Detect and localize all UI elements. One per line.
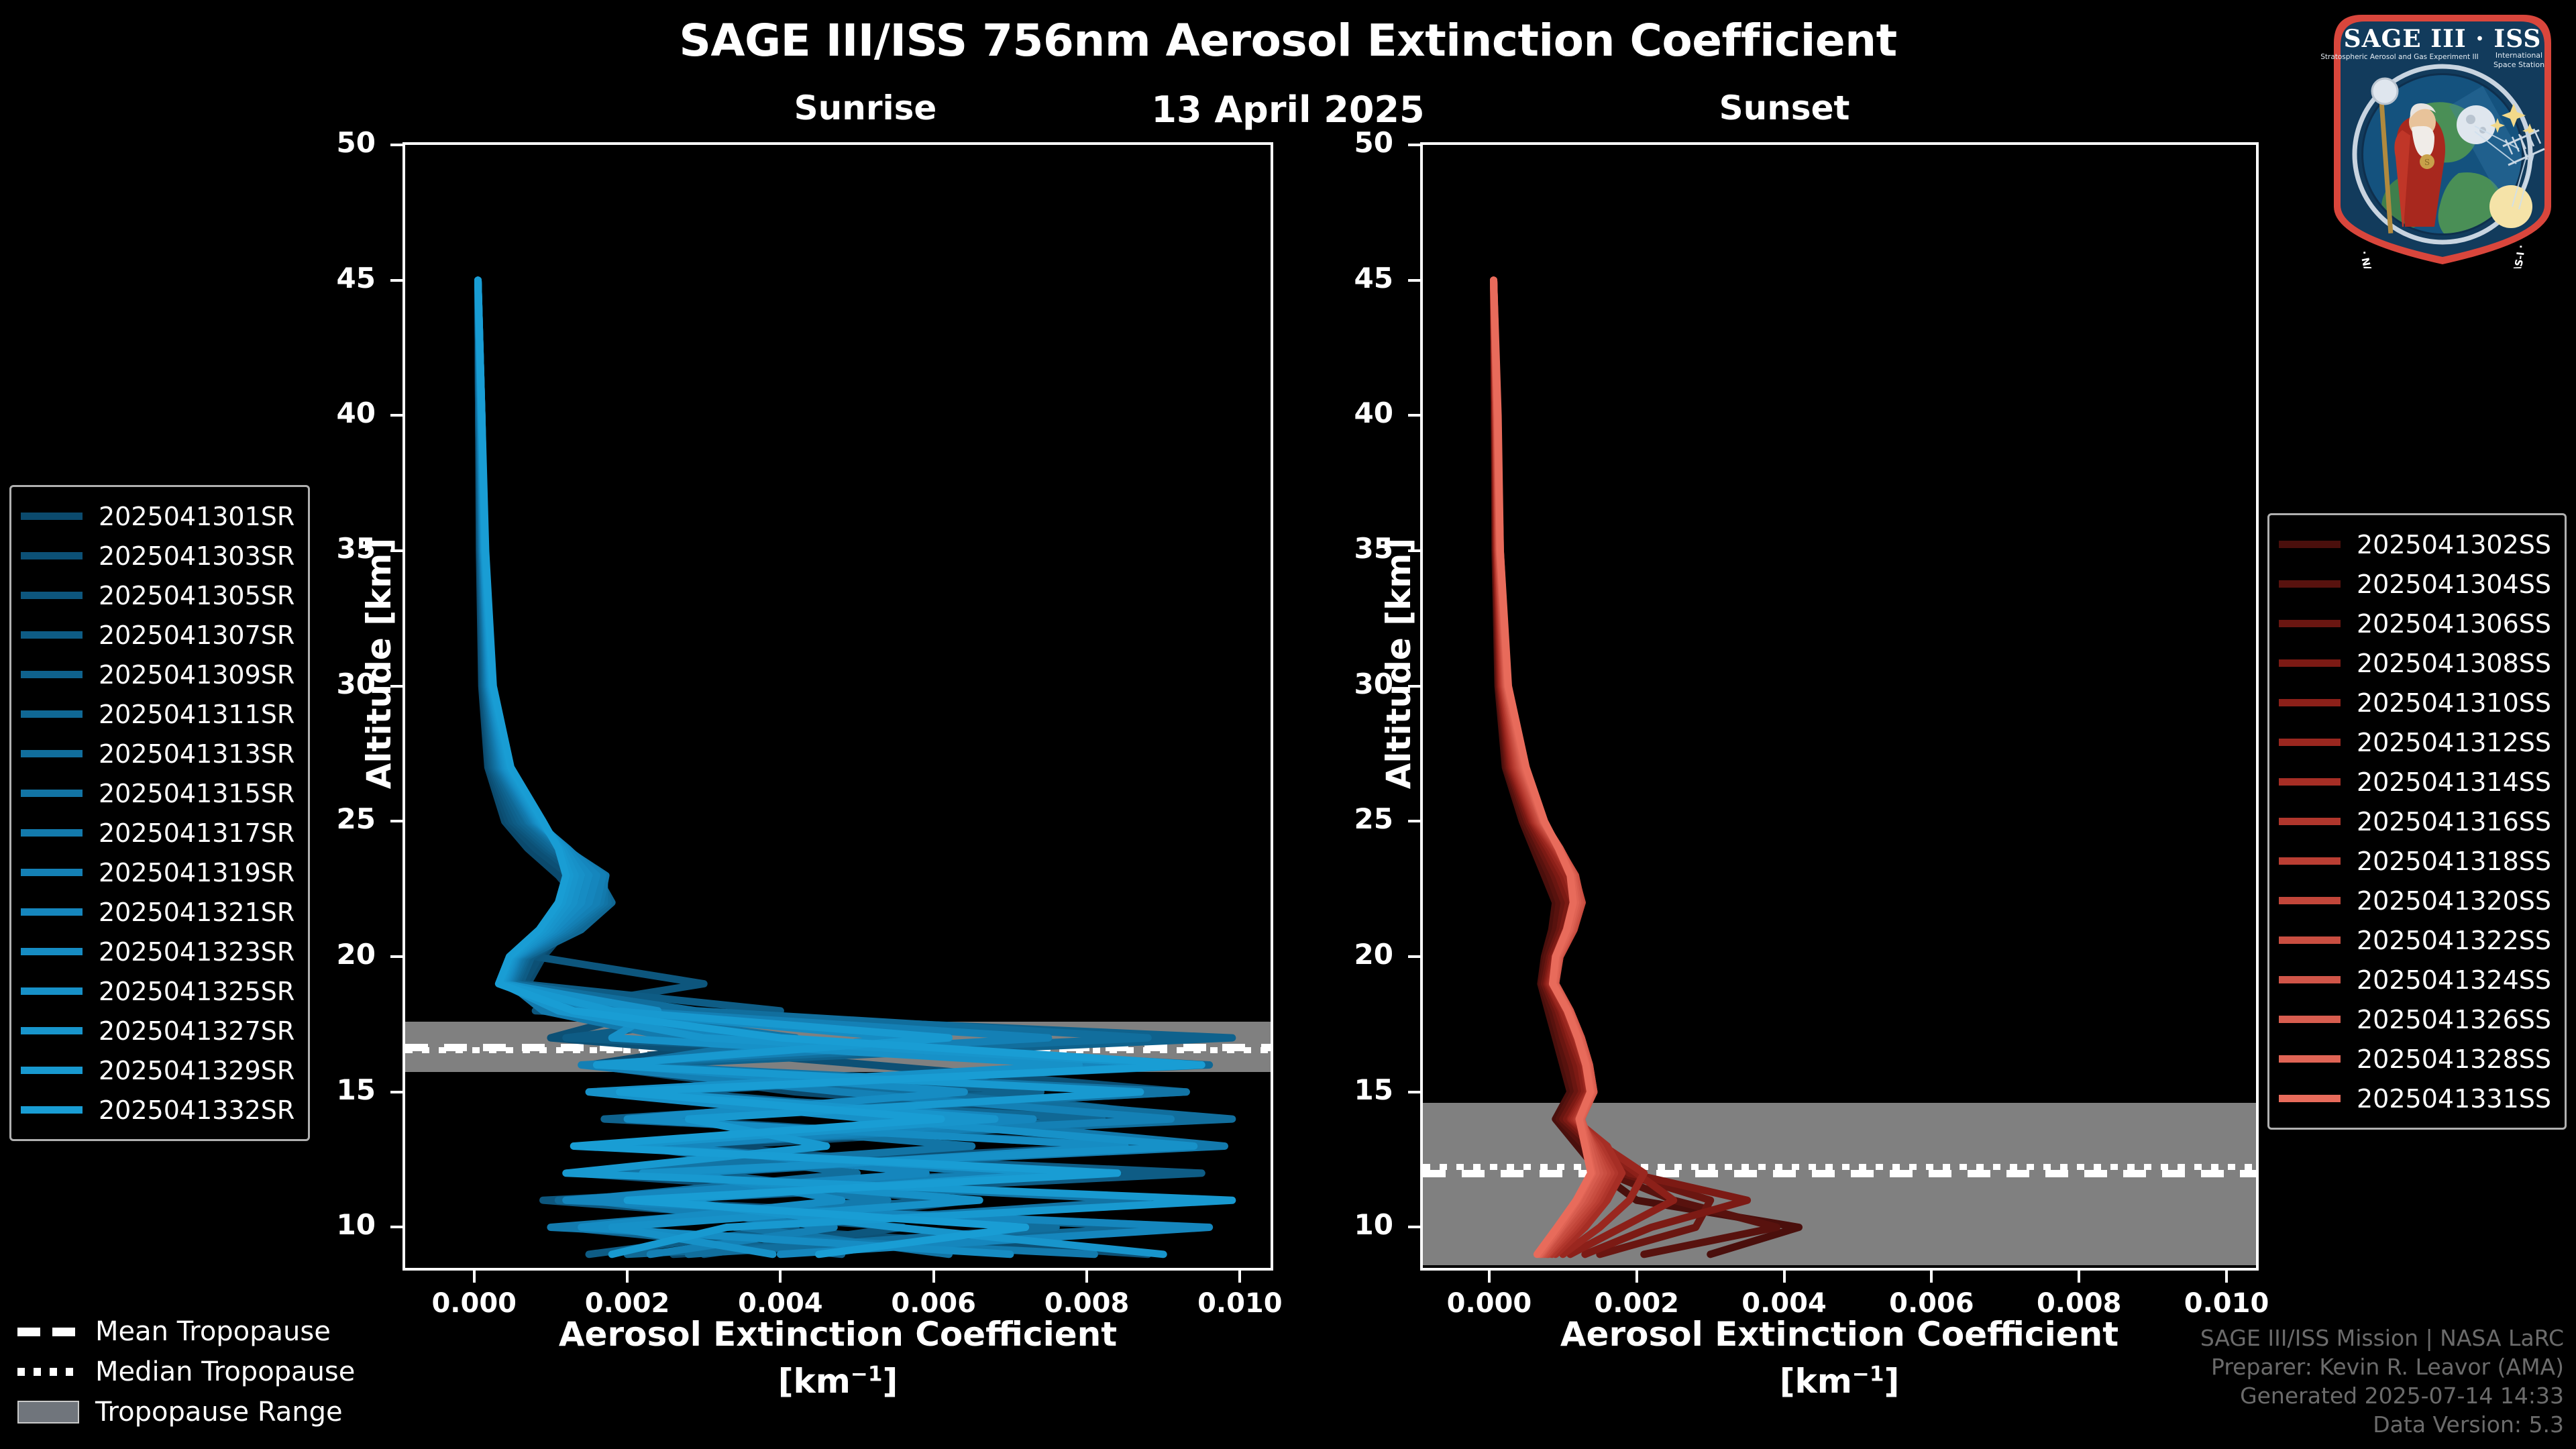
- y-axis-tick: [390, 144, 402, 146]
- legend-sunset-label: 2025041328SS: [2357, 1044, 2551, 1074]
- legend-sunset-label: 2025041320SS: [2357, 886, 2551, 916]
- series-color-swatch-icon: [21, 1027, 83, 1034]
- y-axis-tick-label: 10: [1306, 1208, 1393, 1241]
- x-axis-label-sunrise: Aerosol Extinction Coefficient: [402, 1315, 1273, 1354]
- x-axis-tick: [2078, 1271, 2080, 1283]
- legend-sunrise-label: 2025041323SR: [99, 937, 294, 967]
- x-axis-tick: [1488, 1271, 1491, 1283]
- legend-sunrise-item[interactable]: 2025041305SR: [21, 576, 294, 615]
- patch-moon-icon: [2457, 105, 2495, 144]
- series-color-swatch-icon: [21, 908, 83, 916]
- y-axis-tick: [390, 414, 402, 417]
- sunrise-plot-area: [402, 142, 1273, 1271]
- sunset-plot-area: [1420, 142, 2259, 1271]
- legend-sunrise-label: 2025041305SR: [99, 581, 294, 610]
- legend-sunset-item[interactable]: 2025041310SS: [2279, 683, 2551, 722]
- observation-date: 13 April 2025: [1100, 89, 1476, 131]
- legend-sunset-item[interactable]: 2025041326SS: [2279, 1000, 2551, 1039]
- sunrise-panel-label: Sunrise: [691, 89, 1040, 127]
- legend-sunset-item[interactable]: 2025041316SS: [2279, 802, 2551, 841]
- legend-item-median-tropopause: Median Tropopause: [17, 1352, 355, 1392]
- series-color-swatch-icon: [2279, 739, 2341, 746]
- legend-sunrise-label: 2025041307SR: [99, 621, 294, 650]
- patch-subtitle-right-1: International: [2495, 51, 2542, 60]
- x-axis-units-sunrise: [km−1]: [402, 1362, 1273, 1401]
- legend-item-mean-tropopause: Mean Tropopause: [17, 1311, 355, 1352]
- legend-sunrise-item[interactable]: 2025041309SR: [21, 655, 294, 694]
- patch-subtitle-left: Stratospheric Aerosol and Gas Experiment…: [2320, 53, 2479, 61]
- credit-mission: SAGE III/ISS Mission | NASA LaRC: [2200, 1324, 2564, 1353]
- y-axis-tick-label: 50: [288, 126, 376, 159]
- sunrise-series-lines: [405, 145, 1271, 1268]
- legend-sunrise-label: 2025041329SR: [99, 1056, 294, 1085]
- series-line: [1494, 280, 1748, 1254]
- legend-sunrise-label: 2025041327SR: [99, 1016, 294, 1046]
- x-axis-tick: [779, 1271, 782, 1283]
- series-color-swatch-icon: [21, 1106, 83, 1114]
- patch-title: SAGE III · ISS: [2344, 25, 2542, 53]
- legend-sunrise-label: 2025041301SR: [99, 502, 294, 531]
- x-axis-tick-label: 0.008: [2002, 1288, 2156, 1319]
- legend-sunset-label: 2025041314SS: [2357, 767, 2551, 797]
- legend-sunrise-item[interactable]: 2025041325SR: [21, 971, 294, 1011]
- y-axis-tick: [390, 279, 402, 282]
- series-color-swatch-icon: [21, 671, 83, 678]
- series-color-swatch-icon: [2279, 620, 2341, 627]
- x-axis-tick-label: 0.010: [2149, 1288, 2304, 1319]
- y-axis-tick: [390, 1091, 402, 1093]
- legend-sunset-item[interactable]: 2025041331SS: [2279, 1079, 2551, 1118]
- legend-tropopause: Mean Tropopause Median Tropopause Tropop…: [17, 1311, 355, 1432]
- series-color-swatch-icon: [2279, 976, 2341, 983]
- legend-sunset-item[interactable]: 2025041312SS: [2279, 722, 2551, 762]
- svg-text:S: S: [2424, 158, 2430, 167]
- y-axis-tick: [1408, 685, 1420, 688]
- page-title: SAGE III/ISS 756nm Aerosol Extinction Co…: [0, 15, 2576, 66]
- gray-band-swatch-icon: [17, 1401, 79, 1424]
- legend-sunset-label: 2025041331SS: [2357, 1084, 2551, 1114]
- credit-preparer: Preparer: Kevin R. Leavor (AMA): [2200, 1353, 2564, 1382]
- x-axis-tick: [1930, 1271, 1933, 1283]
- series-color-swatch-icon: [21, 631, 83, 639]
- y-axis-tick: [390, 955, 402, 958]
- legend-sunrise-label: 2025041319SR: [99, 858, 294, 888]
- legend-sunset-label: 2025041326SS: [2357, 1005, 2551, 1034]
- legend-sunset-item[interactable]: 2025041308SS: [2279, 643, 2551, 683]
- y-axis-tick: [390, 549, 402, 552]
- y-axis-tick-label: 20: [1306, 938, 1393, 971]
- legend-sunset-item[interactable]: 2025041324SS: [2279, 960, 2551, 1000]
- series-color-swatch-icon: [21, 829, 83, 837]
- y-axis-tick-label: 30: [1306, 667, 1393, 700]
- legend-sunset-item[interactable]: 2025041322SS: [2279, 920, 2551, 960]
- series-color-swatch-icon: [21, 750, 83, 757]
- y-axis-tick: [1408, 144, 1420, 146]
- y-axis-tick-label: 50: [1306, 126, 1393, 159]
- series-color-swatch-icon: [2279, 936, 2341, 944]
- x-axis-tick: [1238, 1271, 1241, 1283]
- legend-sunset-item[interactable]: 2025041306SS: [2279, 604, 2551, 643]
- series-color-swatch-icon: [2279, 857, 2341, 865]
- legend-sunrise-item[interactable]: 2025041329SR: [21, 1051, 294, 1090]
- legend-sunrise-item[interactable]: 2025041311SR: [21, 694, 294, 734]
- x-axis-units-sunset: [km−1]: [1420, 1362, 2259, 1401]
- legend-sunrise-item[interactable]: 2025041303SR: [21, 536, 294, 576]
- x-axis-tick-label: 0.002: [1560, 1288, 1714, 1319]
- legend-sunrise-item[interactable]: 2025041313SR: [21, 734, 294, 773]
- legend-sunset-label: 2025041310SS: [2357, 688, 2551, 718]
- legend-item-tropopause-range: Tropopause Range: [17, 1392, 355, 1432]
- sage-iii-iss-mission-patch: S SAGE III · ISS Stratospheric Aerosol a…: [2318, 5, 2567, 268]
- y-axis-tick: [1408, 955, 1420, 958]
- sunset-series-lines: [1423, 145, 2256, 1268]
- legend-sunrise-item[interactable]: 2025041321SR: [21, 892, 294, 932]
- legend-sunset-item[interactable]: 2025041320SS: [2279, 881, 2551, 920]
- legend-sunrise-label: 2025041332SR: [99, 1095, 294, 1125]
- legend-sunrise-label: 2025041313SR: [99, 739, 294, 769]
- series-color-swatch-icon: [21, 869, 83, 876]
- x-axis-tick: [1635, 1271, 1638, 1283]
- legend-sunrise-label: 2025041315SR: [99, 779, 294, 808]
- x-axis-tick-label: 0.002: [550, 1288, 704, 1319]
- credits-block: SAGE III/ISS Mission | NASA LaRC Prepare…: [2200, 1324, 2564, 1440]
- x-axis-tick: [1085, 1271, 1088, 1283]
- y-axis-tick: [1408, 820, 1420, 822]
- legend-sunset-item[interactable]: 2025041302SS: [2279, 525, 2551, 564]
- series-color-swatch-icon: [2279, 659, 2341, 667]
- series-color-swatch-icon: [2279, 778, 2341, 786]
- y-axis-tick-label: 10: [288, 1208, 376, 1241]
- x-axis-tick-label: 0.000: [397, 1288, 551, 1319]
- dashed-line-icon: [17, 1328, 79, 1336]
- series-color-swatch-icon: [21, 948, 83, 955]
- patch-sun-icon: [2489, 185, 2532, 228]
- legend-sunset-label: 2025041322SS: [2357, 926, 2551, 955]
- series-color-swatch-icon: [2279, 1095, 2341, 1102]
- legend-sunrise-item[interactable]: 2025041319SR: [21, 853, 294, 892]
- series-color-swatch-icon: [21, 790, 83, 797]
- legend-sunrise-label: 2025041321SR: [99, 898, 294, 927]
- series-color-swatch-icon: [21, 1067, 83, 1074]
- x-axis-tick-label: 0.010: [1163, 1288, 1317, 1319]
- legend-sunset-item[interactable]: 2025041318SS: [2279, 841, 2551, 881]
- series-color-swatch-icon: [2279, 580, 2341, 588]
- sunset-panel-label: Sunset: [1610, 89, 1959, 127]
- series-color-swatch-icon: [2279, 1016, 2341, 1023]
- x-axis-tick-label: 0.008: [1010, 1288, 1164, 1319]
- legend-sunset-label: 2025041306SS: [2357, 609, 2551, 639]
- legend-sunset-item[interactable]: 2025041304SS: [2279, 564, 2551, 604]
- legend-label-median-tropopause: Median Tropopause: [95, 1356, 355, 1387]
- legend-sunset-label: 2025041304SS: [2357, 570, 2551, 599]
- legend-sunset-label: 2025041316SS: [2357, 807, 2551, 837]
- x-axis-tick: [626, 1271, 629, 1283]
- y-axis-tick: [1408, 414, 1420, 417]
- subtitle-row: Sunrise 13 April 2025 Sunset: [0, 89, 2576, 136]
- x-axis-tick: [2225, 1271, 2228, 1283]
- legend-sunset[interactable]: 2025041302SS2025041304SS2025041306SS2025…: [2267, 513, 2567, 1130]
- series-color-swatch-icon: [21, 552, 83, 559]
- y-axis-tick: [1408, 549, 1420, 552]
- x-axis-tick-label: 0.004: [1707, 1288, 1862, 1319]
- legend-sunrise-label: 2025041303SR: [99, 541, 294, 571]
- dotted-line-icon: [17, 1368, 79, 1376]
- y-axis-tick: [1408, 1226, 1420, 1228]
- series-color-swatch-icon: [21, 592, 83, 599]
- legend-sunset-item[interactable]: 2025041328SS: [2279, 1039, 2551, 1079]
- x-axis-label-sunset: Aerosol Extinction Coefficient: [1420, 1315, 2259, 1354]
- series-color-swatch-icon: [2279, 699, 2341, 706]
- series-color-swatch-icon: [21, 710, 83, 718]
- legend-sunrise-label: 2025041311SR: [99, 700, 294, 729]
- legend-sunrise-item[interactable]: 2025041327SR: [21, 1011, 294, 1051]
- y-axis-tick: [1408, 1091, 1420, 1093]
- credit-generated: Generated 2025-07-14 14:33: [2200, 1382, 2564, 1411]
- x-axis-tick-label: 0.004: [703, 1288, 857, 1319]
- legend-sunrise[interactable]: 2025041301SR2025041303SR2025041305SR2025…: [9, 485, 310, 1141]
- legend-label-tropopause-range: Tropopause Range: [95, 1397, 343, 1428]
- legend-sunrise-item[interactable]: 2025041323SR: [21, 932, 294, 971]
- credit-data-version: Data Version: 5.3: [2200, 1411, 2564, 1440]
- legend-sunrise-label: 2025041317SR: [99, 818, 294, 848]
- series-color-swatch-icon: [2279, 541, 2341, 548]
- legend-sunrise-item[interactable]: 2025041317SR: [21, 813, 294, 853]
- x-axis-tick-label: 0.006: [1854, 1288, 2008, 1319]
- legend-sunset-label: 2025041312SS: [2357, 728, 2551, 757]
- y-axis-tick: [390, 1226, 402, 1228]
- y-axis-tick-label: 45: [1306, 262, 1393, 294]
- legend-sunrise-item[interactable]: 2025041332SR: [21, 1090, 294, 1130]
- series-color-swatch-icon: [2279, 818, 2341, 825]
- legend-sunset-label: 2025041308SS: [2357, 649, 2551, 678]
- x-axis-tick: [1783, 1271, 1786, 1283]
- patch-subtitle-right-2: Space Station: [2493, 60, 2544, 69]
- legend-sunrise-item[interactable]: 2025041315SR: [21, 773, 294, 813]
- legend-sunset-label: 2025041318SS: [2357, 847, 2551, 876]
- y-axis-tick: [1408, 279, 1420, 282]
- legend-sunset-item[interactable]: 2025041314SS: [2279, 762, 2551, 802]
- y-axis-tick-label: 35: [1306, 532, 1393, 565]
- series-color-swatch-icon: [21, 987, 83, 995]
- y-axis-tick-label: 40: [1306, 396, 1393, 429]
- x-axis-tick-label: 0.006: [857, 1288, 1011, 1319]
- series-color-swatch-icon: [21, 513, 83, 520]
- y-axis-tick-label: 40: [288, 396, 376, 429]
- legend-sunrise-label: 2025041309SR: [99, 660, 294, 690]
- legend-sunset-label: 2025041302SS: [2357, 530, 2551, 559]
- y-axis-tick-label: 45: [288, 262, 376, 294]
- legend-sunrise-label: 2025041325SR: [99, 977, 294, 1006]
- series-color-swatch-icon: [2279, 1055, 2341, 1063]
- series-line: [1494, 280, 1777, 1254]
- series-color-swatch-icon: [2279, 897, 2341, 904]
- x-axis-tick: [473, 1271, 476, 1283]
- y-axis-tick: [390, 685, 402, 688]
- legend-label-mean-tropopause: Mean Tropopause: [95, 1316, 331, 1347]
- legend-sunset-label: 2025041324SS: [2357, 965, 2551, 995]
- legend-sunrise-item[interactable]: 2025041301SR: [21, 496, 294, 536]
- y-axis-tick: [390, 820, 402, 822]
- series-line: [1494, 280, 1799, 1254]
- y-axis-tick-label: 15: [1306, 1073, 1393, 1106]
- legend-sunrise-item[interactable]: 2025041307SR: [21, 615, 294, 655]
- x-axis-tick: [932, 1271, 935, 1283]
- y-axis-tick-label: 25: [1306, 802, 1393, 835]
- x-axis-tick-label: 0.000: [1412, 1288, 1566, 1319]
